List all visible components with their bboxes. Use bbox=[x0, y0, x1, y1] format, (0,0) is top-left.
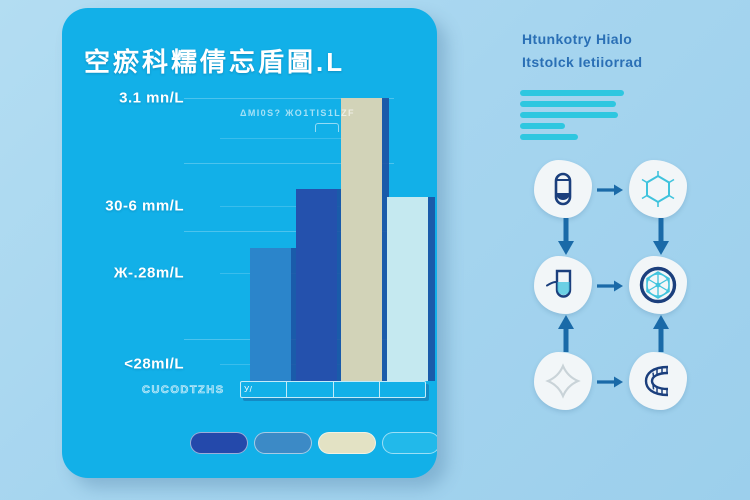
text-line-5 bbox=[520, 134, 578, 140]
y-axis-tick-label: 30-6 mm/L bbox=[105, 197, 184, 214]
panel-title-line: ItstoIck Ietiiorrad bbox=[522, 51, 737, 74]
arrow-crystal-to-dna bbox=[596, 374, 624, 390]
arrow-tube-to-beaker bbox=[557, 218, 575, 256]
y-axis-tick-label: Ж-.28m/L bbox=[114, 265, 184, 282]
arrow-crystal-to-beaker bbox=[557, 314, 575, 352]
annotation-bracket-icon bbox=[315, 123, 339, 132]
bar-side-shadow bbox=[428, 197, 435, 381]
text-line-3 bbox=[520, 112, 618, 118]
chart-bar bbox=[387, 197, 428, 381]
y-axis-tick-label: <28mI/L bbox=[124, 356, 184, 373]
diamond-crystal-icon[interactable] bbox=[534, 352, 592, 410]
axis-cell bbox=[287, 382, 333, 397]
y-axis-tick-label: 3.1 mn/L bbox=[119, 90, 184, 107]
analysis-wheel-icon[interactable] bbox=[629, 256, 687, 314]
axis-cell bbox=[380, 382, 425, 397]
beaker-pipette-icon[interactable] bbox=[534, 256, 592, 314]
x-axis-strip bbox=[240, 381, 426, 398]
bar-fill bbox=[387, 197, 428, 381]
chart-title: 空瘀科糯倩忘盾圖.L bbox=[84, 42, 345, 79]
legend-pill-2[interactable] bbox=[254, 432, 312, 454]
panel-title-line: Htunkotry Hialo bbox=[522, 28, 737, 51]
arrow-beaker-to-wheel bbox=[596, 278, 624, 294]
bar-fill bbox=[250, 248, 291, 381]
text-line-4 bbox=[520, 123, 565, 129]
x-axis-label: CUCODTZHS bbox=[142, 384, 225, 396]
molecule-hexagon-icon[interactable] bbox=[629, 160, 687, 218]
chart-card: 空瘀科糯倩忘盾圖.L 3.1 mn/L30-6 mm/LЖ-.28m/L<28m… bbox=[62, 8, 437, 478]
bar-series bbox=[250, 98, 435, 381]
dna-helix-icon[interactable] bbox=[629, 352, 687, 410]
legend-pill-4[interactable] bbox=[382, 432, 437, 454]
text-line-2 bbox=[520, 101, 616, 107]
chart-bar bbox=[250, 248, 291, 381]
test-tube-icon[interactable] bbox=[534, 160, 592, 218]
chart-legend bbox=[190, 432, 437, 454]
arrow-dna-to-wheel bbox=[652, 314, 670, 352]
y-axis-labels: 3.1 mn/L30-6 mm/LЖ-.28m/L<28mI/L bbox=[76, 98, 184, 388]
process-flow-diagram bbox=[516, 160, 736, 410]
chart-annotation: ΔMI0S? ЖO1TIS1LZF bbox=[240, 108, 355, 118]
bar-fill bbox=[296, 189, 337, 381]
chart-bar bbox=[341, 98, 382, 381]
panel-title: Htunkotry HialoItstoIck Ietiiorrad bbox=[522, 28, 737, 74]
legend-pill-3[interactable] bbox=[318, 432, 376, 454]
legend-pill-1[interactable] bbox=[190, 432, 248, 454]
panel-text-lines bbox=[520, 90, 624, 145]
chart-bar bbox=[296, 189, 337, 381]
bar-fill bbox=[341, 98, 382, 381]
text-line-1 bbox=[520, 90, 624, 96]
arrow-molecule-to-wheel bbox=[652, 218, 670, 256]
axis-cell bbox=[334, 382, 380, 397]
arrow-tube-to-molecule bbox=[596, 182, 624, 198]
x-axis-tick: У/ bbox=[244, 385, 252, 394]
